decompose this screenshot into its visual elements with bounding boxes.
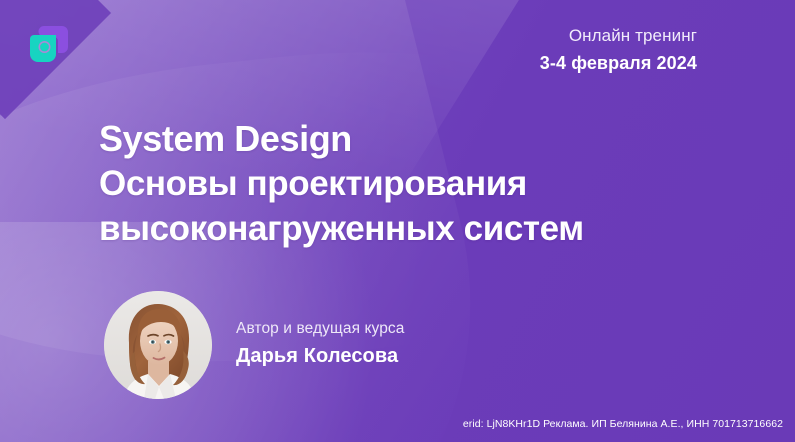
headline-line-1: System Design [99, 116, 584, 161]
headline-line-3: высоконагруженных систем [99, 206, 584, 251]
page-title: System Design Основы проектирования высо… [99, 116, 584, 251]
event-dates-label: 3-4 февраля 2024 [540, 51, 697, 77]
promo-banner: Онлайн тренинг 3-4 февраля 2024 System D… [0, 0, 795, 442]
event-type-label: Онлайн тренинг [540, 24, 697, 48]
avatar [104, 291, 212, 399]
presenter-text: Автор и ведущая курса Дарья Колесова [236, 320, 405, 370]
presenter-block: Автор и ведущая курса Дарья Колесова [104, 291, 405, 399]
presenter-name-label: Дарья Колесова [236, 345, 405, 368]
presenter-role-label: Автор и ведущая курса [236, 320, 405, 338]
headline-line-2: Основы проектирования [99, 161, 584, 206]
legal-disclosure: erid: LjN8KHr1D Реклама. ИП Белянина А.Е… [463, 418, 783, 430]
brand-logo-icon[interactable] [22, 20, 74, 72]
event-meta: Онлайн тренинг 3-4 февраля 2024 [540, 24, 697, 77]
